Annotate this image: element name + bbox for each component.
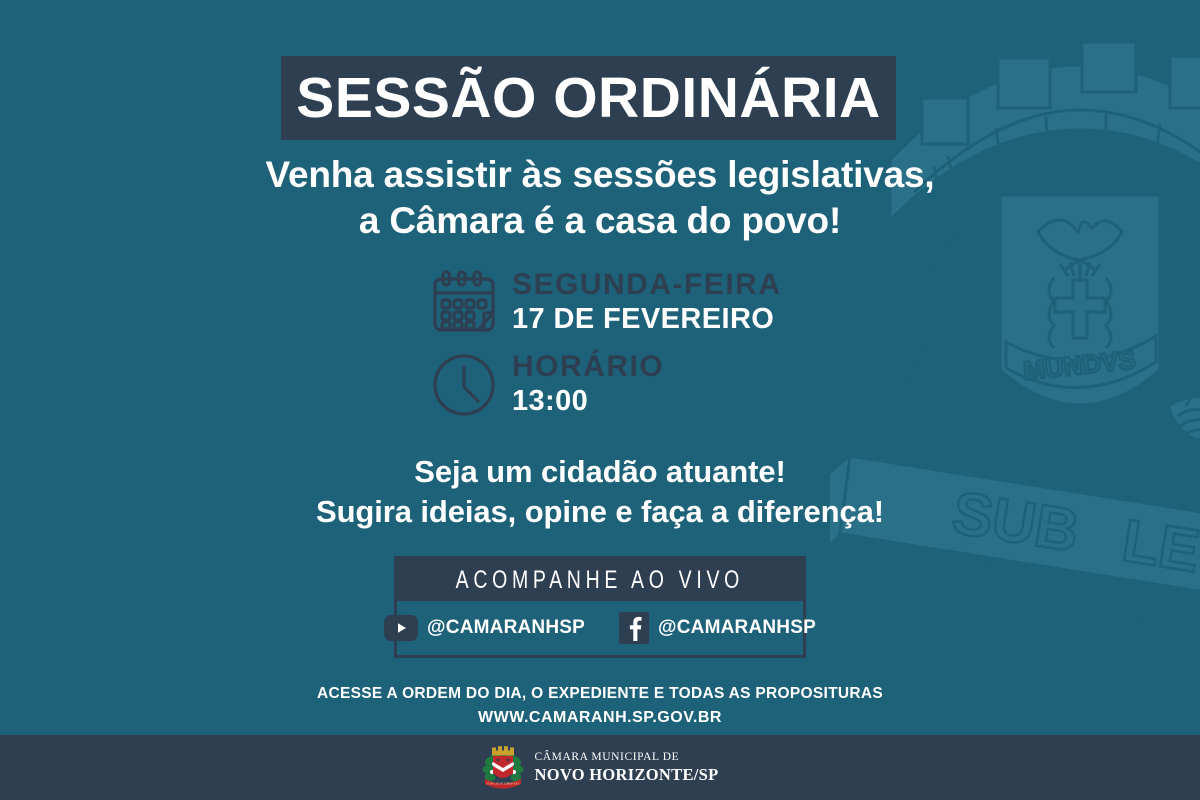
footer-line-1: CÂMARA MUNICIPAL DE	[534, 750, 718, 764]
cta-line-2: Sugira ideias, opine e faça a diferença!	[0, 492, 1200, 532]
session-time-label: HORÁRIO	[512, 351, 664, 383]
subtitle-line-2: a Câmara é a casa do povo!	[0, 198, 1200, 244]
calendar-icon	[430, 269, 498, 337]
footer-bar: SUB LEGE LIBERTAS CÂMARA MUNICIPAL DE NO…	[0, 735, 1200, 800]
access-line-1: ACESSE A ORDEM DO DIA, O EXPEDIENTE E TO…	[0, 682, 1200, 706]
footer-text-block: CÂMARA MUNICIPAL DE NOVO HORIZONTE/SP	[534, 750, 718, 784]
youtube-icon	[384, 615, 418, 641]
youtube-link[interactable]: @CAMARANHSP	[384, 615, 585, 641]
session-date-row: SEGUNDA-FEIRA 17 DE FEVEREIRO	[430, 262, 1200, 344]
session-date-value: 17 DE FEVEREIRO	[512, 302, 782, 337]
poster-canvas: .wmF{fill:#2a7089;} .wmS{fill:none;strok…	[0, 0, 1200, 800]
facebook-handle: @CAMARANHSP	[658, 617, 816, 639]
session-day-label: SEGUNDA-FEIRA	[512, 269, 782, 301]
subtitle-line-1: Venha assistir às sessões legislativas,	[0, 152, 1200, 198]
footer-brand: SUB LEGE LIBERTAS CÂMARA MUNICIPAL DE NO…	[481, 744, 718, 792]
cta-line-1: Seja um cidadão atuante!	[0, 452, 1200, 492]
facebook-icon	[619, 612, 649, 644]
live-header: ACOMPANHE AO VIVO	[397, 559, 803, 601]
subtitle: Venha assistir às sessões legislativas, …	[0, 152, 1200, 245]
clock-icon	[430, 351, 498, 419]
svg-text:SUB LEGE LIBERTAS: SUB LEGE LIBERTAS	[487, 781, 520, 785]
live-broadcast-box: ACOMPANHE AO VIVO @CAMARANHSP @CAMARANHS…	[394, 556, 806, 658]
session-time-row: HORÁRIO 13:00	[430, 344, 1200, 426]
facebook-link[interactable]: @CAMARANHSP	[619, 612, 816, 644]
live-socials: @CAMARANHSP @CAMARANHSP	[397, 601, 803, 655]
call-to-action: Seja um cidadão atuante! Sugira ideias, …	[0, 452, 1200, 533]
page-title-box: SESSÃO ORDINÁRIA	[281, 56, 896, 140]
footer-line-2: NOVO HORIZONTE/SP	[534, 765, 718, 785]
session-time-value: 13:00	[512, 384, 664, 419]
access-info: ACESSE A ORDEM DO DIA, O EXPEDIENTE E TO…	[0, 682, 1200, 731]
live-header-label: ACOMPANHE AO VIVO	[456, 566, 744, 595]
coat-of-arms-icon: SUB LEGE LIBERTAS	[481, 744, 525, 792]
website-url[interactable]: WWW.CAMARANH.SP.GOV.BR	[0, 706, 1200, 731]
session-info-block: SEGUNDA-FEIRA 17 DE FEVEREIRO HORÁRIO 13…	[0, 262, 1200, 426]
youtube-handle: @CAMARANHSP	[427, 617, 585, 639]
page-title: SESSÃO ORDINÁRIA	[296, 70, 880, 127]
